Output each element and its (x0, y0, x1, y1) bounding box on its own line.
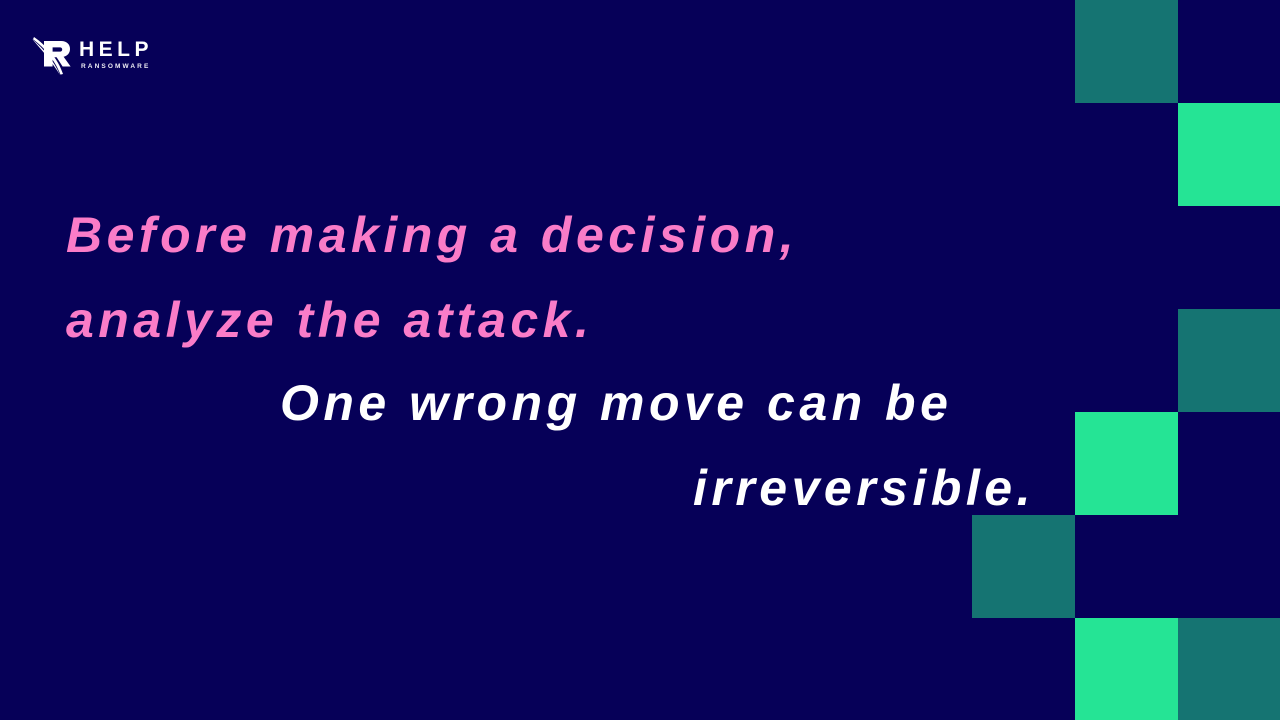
headline-line-1: Before making a decision, (66, 210, 798, 260)
brand-wordmark: HELP RANSOMWARE (79, 39, 153, 71)
headline-line-2: analyze the attack. (66, 295, 593, 345)
headline-line-3: One wrong move can be (280, 378, 952, 428)
brand-tagline: RANSOMWARE (81, 64, 153, 71)
slide-canvas: HELP RANSOMWARE Before making a decision… (0, 0, 1280, 720)
brand-name: HELP (79, 39, 153, 60)
headline-line-4: irreversible. (693, 463, 1035, 513)
brand-logo: HELP RANSOMWARE (30, 30, 153, 78)
headline-block: Before making a decision, analyze the at… (0, 0, 1280, 720)
r-swoosh-logo-icon (30, 31, 76, 77)
